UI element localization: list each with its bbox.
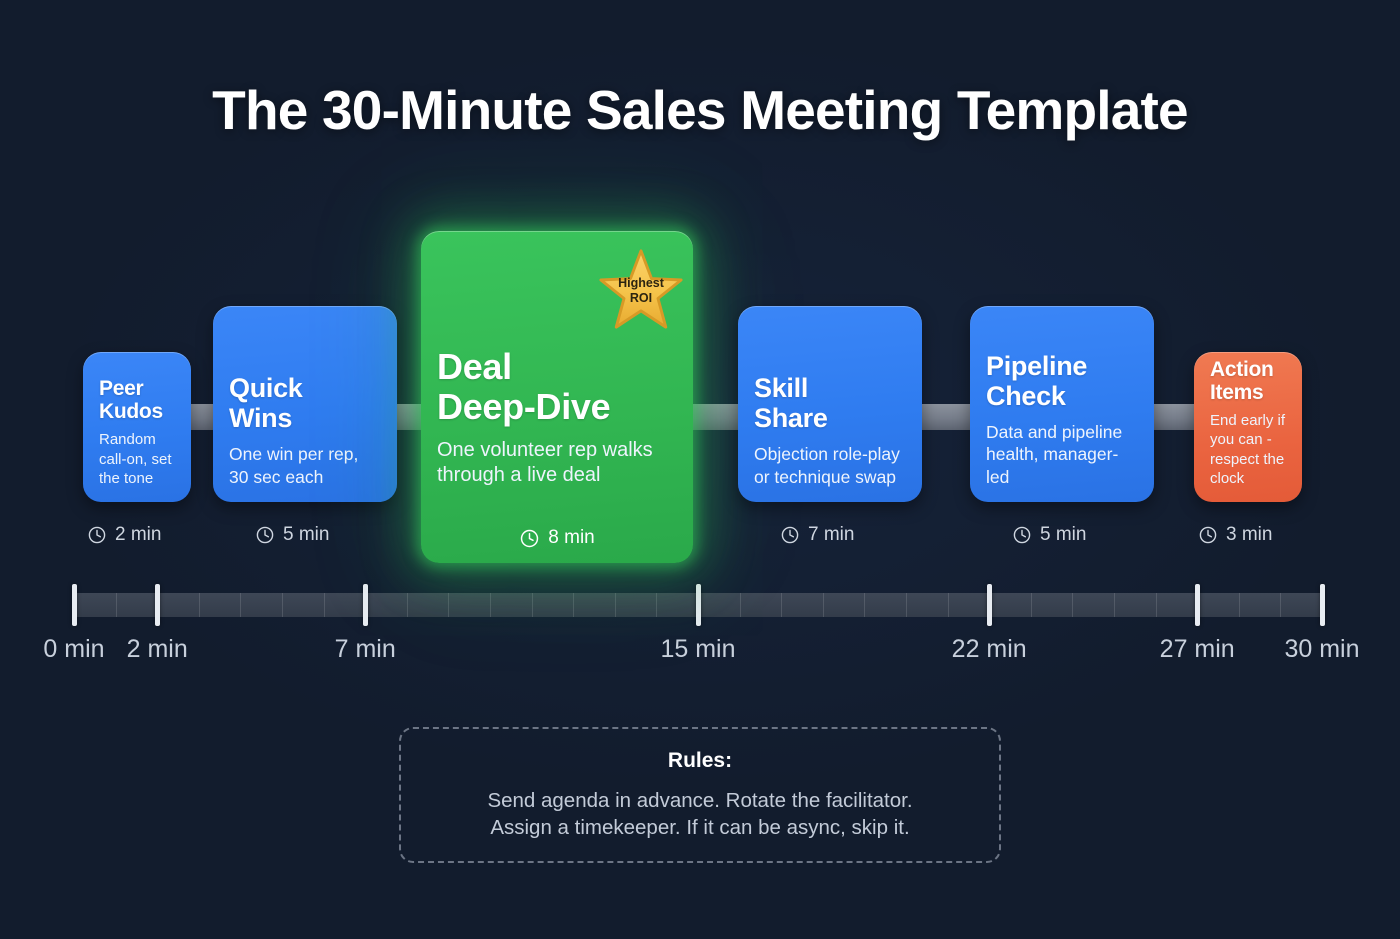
segment-duration-label: 5 min bbox=[1040, 524, 1086, 546]
ruler-tick-minor bbox=[490, 593, 491, 617]
ruler-tick-minor bbox=[615, 593, 616, 617]
segment-description: End early if you can - respect the clock bbox=[1210, 411, 1286, 488]
segment-card-content: PeerKudosRandom call-on, set the tone bbox=[99, 377, 175, 488]
ruler-tick-minor bbox=[282, 593, 283, 617]
ruler-tick-minor bbox=[781, 593, 782, 617]
segment-title: SkillShare bbox=[754, 374, 906, 434]
segment-card-skill-share[interactable]: SkillShareObjection role-play or techniq… bbox=[738, 306, 922, 502]
segment-card-action-items[interactable]: ActionItemsEnd early if you can - respec… bbox=[1194, 352, 1302, 502]
segment-duration: 8 min bbox=[437, 527, 677, 549]
segment-card-content: DealDeep-DiveOne volunteer rep walks thr… bbox=[437, 347, 677, 489]
ruler-tick-minor bbox=[823, 593, 824, 617]
star-icon bbox=[595, 249, 687, 337]
segment-title: PipelineCheck bbox=[986, 352, 1138, 412]
segment-duration: 5 min bbox=[1012, 524, 1086, 546]
ruler-tick-label: 27 min bbox=[1160, 635, 1235, 664]
segment-title: ActionItems bbox=[1210, 358, 1286, 405]
ruler-tick-major bbox=[1320, 584, 1325, 626]
ruler-tick-minor bbox=[324, 593, 325, 617]
ruler-tick-minor bbox=[1280, 593, 1281, 617]
clock-icon bbox=[1198, 525, 1218, 545]
ruler-tick-minor bbox=[906, 593, 907, 617]
segment-duration-label: 2 min bbox=[115, 524, 161, 546]
ruler-tick-label: 22 min bbox=[952, 635, 1027, 664]
ruler-tick-minor bbox=[740, 593, 741, 617]
segment-duration: 3 min bbox=[1198, 524, 1272, 546]
segment-card-content: ActionItemsEnd early if you can - respec… bbox=[1210, 358, 1286, 488]
ruler-tick-minor bbox=[1114, 593, 1115, 617]
clock-icon bbox=[519, 528, 540, 549]
segment-description: Objection role-play or technique swap bbox=[754, 443, 906, 488]
segment-card-content: SkillShareObjection role-play or techniq… bbox=[754, 374, 906, 488]
segment-card-content: QuickWinsOne win per rep, 30 sec each bbox=[229, 374, 381, 488]
ruler-tick-label: 15 min bbox=[660, 635, 735, 664]
rules-heading: Rules: bbox=[668, 749, 732, 773]
segment-duration: 5 min bbox=[255, 524, 329, 546]
clock-icon bbox=[255, 525, 275, 545]
ruler-tick-minor bbox=[116, 593, 117, 617]
ruler-tick-major bbox=[696, 584, 701, 626]
segment-duration: 2 min bbox=[87, 524, 161, 546]
ruler-tick-label: 0 min bbox=[43, 635, 104, 664]
ruler-tick-minor bbox=[532, 593, 533, 617]
ruler-tick-minor bbox=[407, 593, 408, 617]
segment-description: Data and pipeline health, manager-led bbox=[986, 421, 1138, 488]
ruler-tick-label: 2 min bbox=[127, 635, 188, 664]
segment-card-pipeline-check[interactable]: PipelineCheckData and pipeline health, m… bbox=[970, 306, 1154, 502]
ruler-tick-label: 7 min bbox=[335, 635, 396, 664]
timeline-ruler: 0 min2 min7 min15 min22 min27 min30 min bbox=[74, 593, 1322, 617]
rules-body: Send agenda in advance. Rotate the facil… bbox=[487, 787, 912, 841]
segment-connector bbox=[914, 404, 978, 430]
segment-duration-label: 3 min bbox=[1226, 524, 1272, 546]
segment-description: One win per rep, 30 sec each bbox=[229, 443, 381, 488]
ruler-tick-minor bbox=[864, 593, 865, 617]
segment-title: DealDeep-Dive bbox=[437, 347, 677, 427]
ruler-tick-label: 30 min bbox=[1284, 635, 1359, 664]
ruler-tick-minor bbox=[1239, 593, 1240, 617]
segment-card-peer-kudos[interactable]: PeerKudosRandom call-on, set the tone bbox=[83, 352, 191, 502]
ruler-tick-minor bbox=[199, 593, 200, 617]
segment-description: One volunteer rep walks through a live d… bbox=[437, 438, 677, 489]
ruler-tick-minor bbox=[1031, 593, 1032, 617]
ruler-tick-major bbox=[72, 584, 77, 626]
segment-duration-label: 5 min bbox=[283, 524, 329, 546]
segment-title: PeerKudos bbox=[99, 377, 175, 424]
segment-card-quick-wins[interactable]: QuickWinsOne win per rep, 30 sec each bbox=[213, 306, 397, 502]
segment-duration: 7 min bbox=[780, 524, 854, 546]
ruler-tick-minor bbox=[573, 593, 574, 617]
clock-icon bbox=[780, 525, 800, 545]
segment-description: Random call-on, set the tone bbox=[99, 430, 175, 488]
segment-card-content: PipelineCheckData and pipeline health, m… bbox=[986, 352, 1138, 488]
segment-duration-label: 8 min bbox=[548, 527, 594, 549]
ruler-tick-minor bbox=[948, 593, 949, 617]
ruler-tick-minor bbox=[1072, 593, 1073, 617]
highest-roi-star-badge: HighestROI bbox=[595, 249, 687, 337]
ruler-tick-minor bbox=[240, 593, 241, 617]
ruler-tick-major bbox=[987, 584, 992, 626]
ruler-tick-major bbox=[1195, 584, 1200, 626]
segment-title: QuickWins bbox=[229, 374, 381, 434]
ruler-tick-minor bbox=[448, 593, 449, 617]
clock-icon bbox=[1012, 525, 1032, 545]
segment-connector bbox=[685, 404, 746, 430]
clock-icon bbox=[87, 525, 107, 545]
ruler-tick-minor bbox=[656, 593, 657, 617]
segment-duration-label: 7 min bbox=[808, 524, 854, 546]
rules-box: Rules: Send agenda in advance. Rotate th… bbox=[399, 727, 1001, 863]
ruler-tick-minor bbox=[1156, 593, 1157, 617]
ruler-tick-major bbox=[363, 584, 368, 626]
ruler-tick-major bbox=[155, 584, 160, 626]
